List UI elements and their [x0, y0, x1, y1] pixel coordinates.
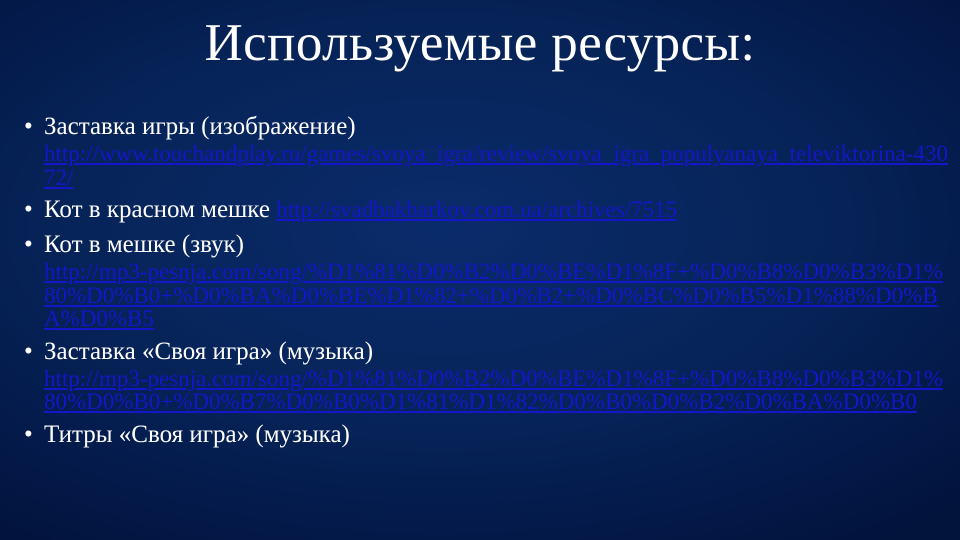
list-item: • Титры «Своя игра» (музыка) [14, 420, 950, 450]
bullet-icon: • [24, 112, 33, 142]
page-title: Используемые ресурсы: [0, 12, 960, 75]
list-item: • Заставка игры (изображение) http://www… [14, 112, 950, 189]
list-item-label: Титры «Своя игра» (музыка) [44, 420, 950, 450]
bullet-icon: • [24, 230, 33, 260]
list-item: • Заставка «Своя игра» (музыка) http://m… [14, 337, 950, 414]
bullet-icon: • [24, 195, 33, 225]
presentation-slide: Используемые ресурсы: • Заставка игры (и… [0, 0, 960, 540]
resource-list: • Заставка игры (изображение) http://www… [14, 112, 950, 451]
list-item: • Кот в мешке (звук) http://mp3-pesnja.c… [14, 230, 950, 331]
resource-link[interactable]: http://www.touchandplay.ru/games/svoya_i… [44, 142, 950, 189]
list-item-label: Кот в красном мешке [44, 196, 276, 223]
resource-link[interactable]: http://mp3-pesnja.com/song/%D1%81%D0%B2%… [44, 367, 950, 414]
bullet-icon: • [24, 420, 33, 450]
resource-link[interactable]: http://svadbakharkov.com.ua/archives/751… [276, 197, 677, 222]
list-item: • Кот в красном мешке http://svadbakhark… [14, 195, 950, 225]
bullet-icon: • [24, 337, 33, 367]
list-item-label: Заставка «Своя игра» (музыка) [44, 337, 950, 367]
list-item-label: Кот в мешке (звук) [44, 230, 950, 260]
resource-link[interactable]: http://mp3-pesnja.com/song/%D1%81%D0%B2%… [44, 260, 950, 331]
list-item-row: Кот в красном мешке http://svadbakharkov… [44, 196, 677, 223]
list-item-label: Заставка игры (изображение) [44, 112, 950, 142]
